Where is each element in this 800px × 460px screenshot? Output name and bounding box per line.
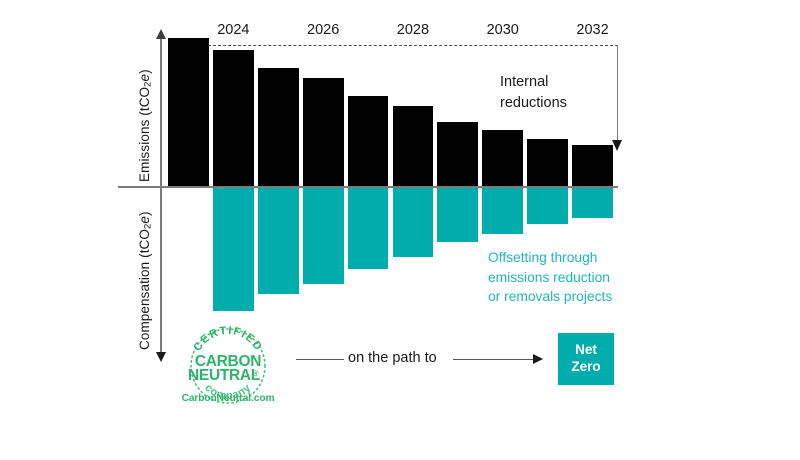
chart-canvas: Emissions (tCO2e) Compensation (tCO2e) 2… (0, 0, 800, 460)
bar-emissions-2027 (348, 96, 389, 186)
offsetting-line-1: Offsetting through (488, 248, 638, 268)
net-zero-line-1: Net (575, 342, 597, 359)
bar-emissions-2032 (572, 145, 613, 186)
bar-compensation-2031 (527, 188, 568, 224)
svg-text:NEUTRAL: NEUTRAL (188, 367, 260, 384)
x-axis-tick-2028: 2028 (397, 22, 429, 38)
x-axis-tick-2032: 2032 (576, 22, 608, 38)
bar-compensation-2032 (572, 188, 613, 218)
x-axis-tick-2026: 2026 (307, 22, 339, 38)
path-label: on the path to (348, 350, 437, 366)
x-axis-tick-2024: 2024 (217, 22, 249, 38)
bar-compensation-2029 (437, 188, 478, 242)
bar-compensation-2024 (213, 188, 254, 311)
bar-emissions-2030 (482, 130, 523, 186)
offsetting-line-3: or removals projects (488, 287, 638, 307)
bar-compensation-2026 (303, 188, 344, 284)
bar-compensation-2027 (348, 188, 389, 269)
offsetting-line-2: emissions reduction (488, 268, 638, 288)
bar-emissions-2025 (258, 68, 299, 186)
plot-area: 20242026202820302032 (0, 0, 800, 460)
bar-compensation-2028 (393, 188, 434, 257)
offsetting-annotation: Offsetting through emissions reduction o… (488, 248, 638, 307)
bar-emissions-2026 (303, 78, 344, 186)
carbon-neutral-certified-logo-icon: CERTIFIED CARBON NEUTRAL ® company (176, 310, 280, 406)
bar-emissions-2031 (527, 139, 568, 186)
internal-reductions-line-1: Internal (500, 72, 640, 93)
bar-emissions-2029 (437, 122, 478, 186)
path-connector-right (453, 359, 535, 360)
bar-compensation-2030 (482, 188, 523, 235)
bar-emissions-2023 (168, 38, 209, 186)
internal-reductions-arrow-icon (612, 140, 622, 151)
bar-emissions-2028 (393, 106, 434, 186)
bar-compensation-2025 (258, 188, 299, 295)
path-arrow-icon (533, 354, 543, 364)
internal-reductions-annotation: Internal reductions (500, 72, 640, 113)
net-zero-badge: Net Zero (558, 333, 614, 385)
dashed-reference-line (208, 45, 618, 46)
x-axis-tick-2030: 2030 (487, 22, 519, 38)
internal-reductions-line-2: reductions (500, 93, 640, 114)
carbon-neutral-url: CarbonNeutral.com (176, 393, 280, 404)
net-zero-line-2: Zero (571, 359, 600, 376)
path-connector-left (296, 359, 344, 360)
svg-text:®: ® (253, 369, 259, 378)
bar-emissions-2024 (213, 50, 254, 186)
